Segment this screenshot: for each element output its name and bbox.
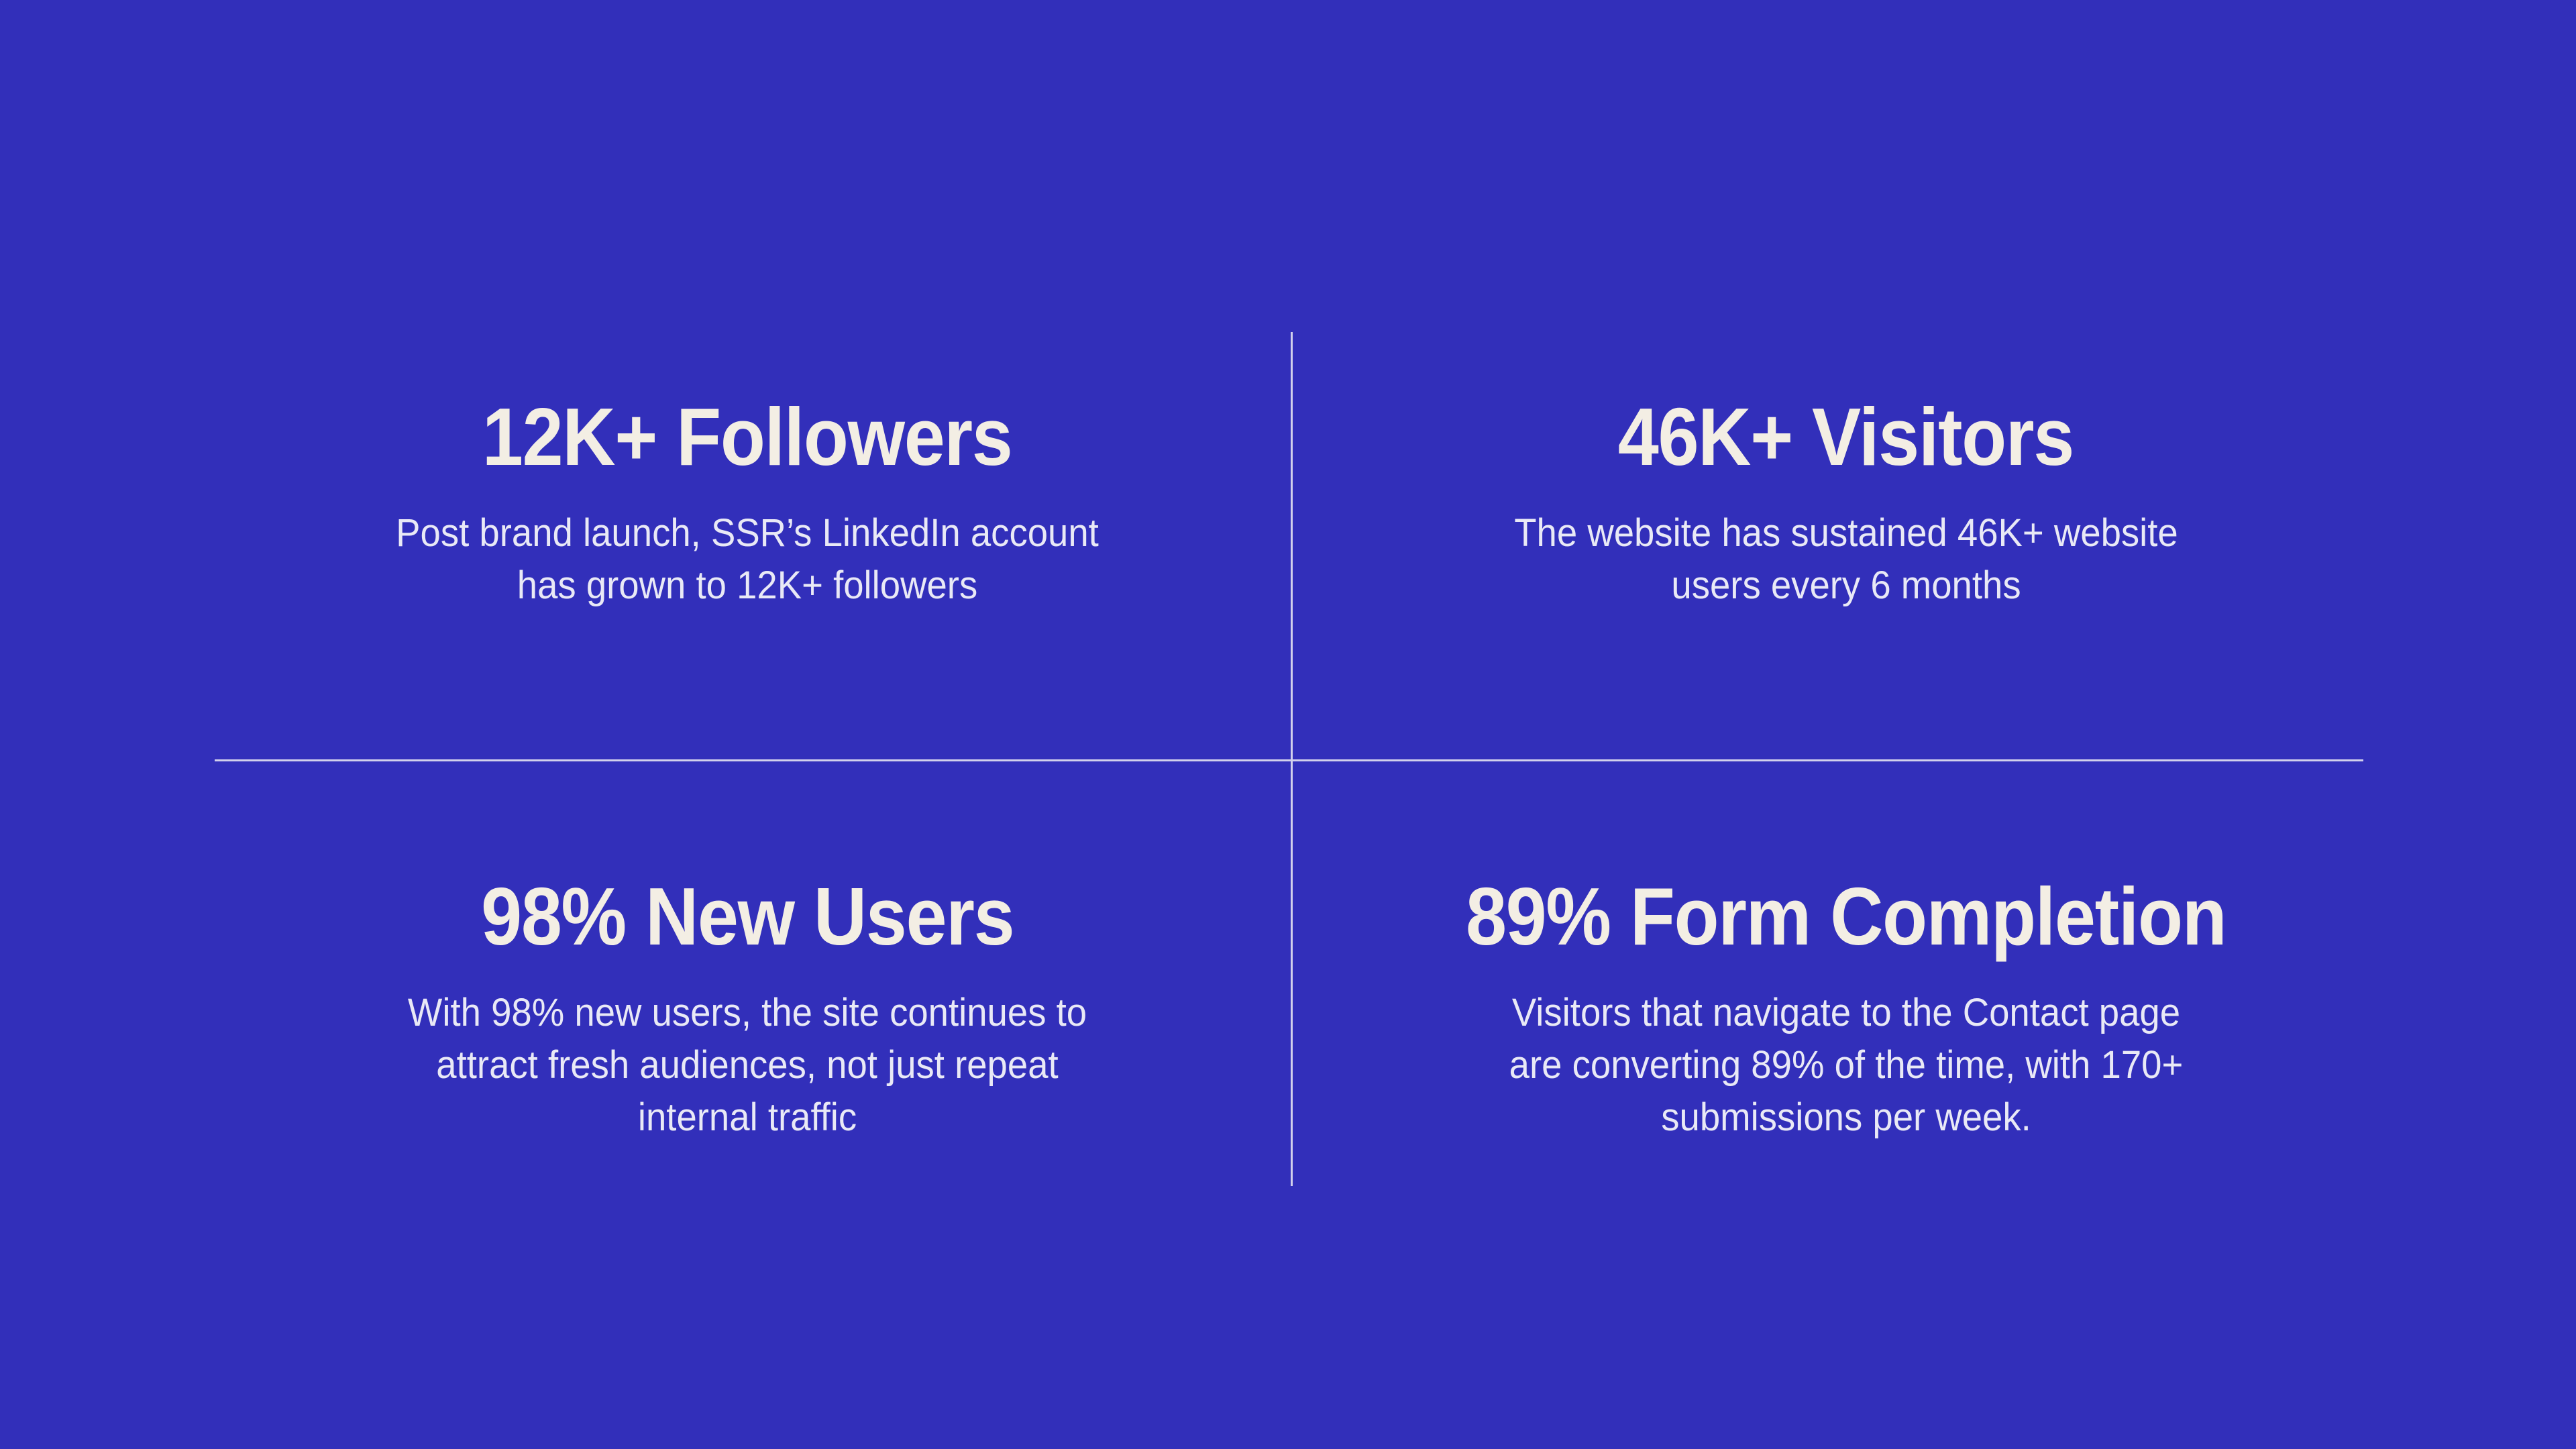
divider-horizontal (215, 759, 2363, 761)
stat-description-new-users: With 98% new users, the site continues t… (375, 987, 1119, 1144)
stat-card-followers: 12K+ Followers Post brand launch, SSR’s … (215, 0, 1291, 760)
stat-card-new-users: 98% New Users With 98% new users, the si… (215, 760, 1291, 1449)
stat-card-visitors: 46K+ Visitors The website has sustained … (1291, 0, 2363, 760)
divider-vertical (1291, 332, 1293, 1186)
stat-headline-form-completion: 89% Form Completion (1466, 875, 2226, 957)
stat-headline-visitors: 46K+ Visitors (1618, 396, 2074, 478)
stat-description-followers: Post brand launch, SSR’s LinkedIn accoun… (375, 507, 1119, 612)
stats-quadrant-grid: 12K+ Followers Post brand launch, SSR’s … (215, 0, 2363, 1449)
stat-headline-followers: 12K+ Followers (482, 396, 1012, 478)
stats-board: 12K+ Followers Post brand launch, SSR’s … (0, 0, 2576, 1449)
stat-card-form-completion: 89% Form Completion Visitors that naviga… (1291, 760, 2363, 1449)
stat-headline-new-users: 98% New Users (481, 875, 1014, 957)
stat-description-form-completion: Visitors that navigate to the Contact pa… (1489, 987, 2202, 1144)
stat-description-visitors: The website has sustained 46K+ website u… (1489, 507, 2202, 612)
